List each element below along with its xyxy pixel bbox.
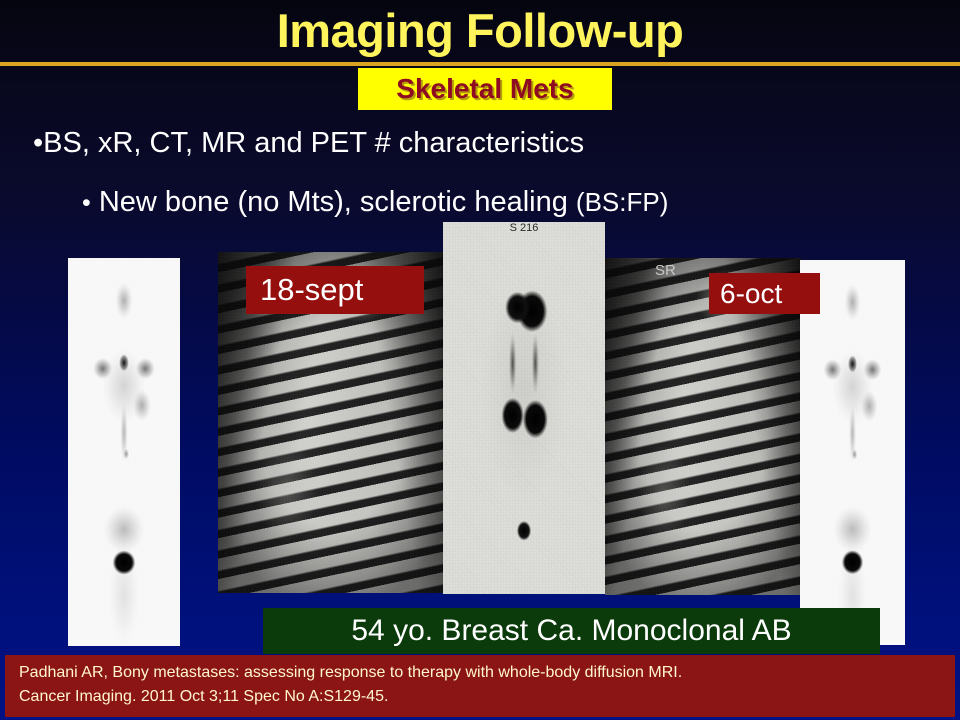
subtitle-banner: Skeletal Mets [358,68,612,110]
scan-noise-overlay [800,260,905,645]
date-label-sept: 18-sept [246,266,424,314]
presentation-slide: Imaging Follow-up Skeletal Mets •BS, xR,… [0,0,960,720]
bullet-dot: • [82,189,91,217]
title-divider [0,62,960,66]
bullet-text-abbrev: (BS:FP) [576,187,668,217]
image-panel-bonescan-baseline [68,258,180,646]
image-panel-bonescan-followup [800,260,905,645]
citation-footer: Padhani AR, Bony metastases: assessing r… [5,655,955,717]
bullet-item-modality-characteristics: •BS, xR, CT, MR and PET # characteristic… [33,127,584,160]
bullet-item-new-bone: • New bone (no Mts), sclerotic healing (… [82,186,668,219]
image-panel-diffusion-mip [443,222,605,594]
bullet-text-main: New bone (no Mts), sclerotic healing [91,186,576,218]
citation-line-1: Padhani AR, Bony metastases: assessing r… [19,661,955,685]
case-caption-banner: 54 yo. Breast Ca. Monoclonal AB [263,608,880,654]
date-label-oct: 6-oct [709,273,820,314]
mri-orientation-marker: SR [655,262,676,279]
subtitle-text: Skeletal Mets [396,73,573,105]
dwi-slice-label: S 216 [443,222,605,234]
case-caption-text: 54 yo. Breast Ca. Monoclonal AB [351,614,791,648]
dwi-noise-overlay [443,222,605,594]
page-title: Imaging Follow-up [0,2,960,60]
scan-noise-overlay [68,258,180,646]
citation-line-2: Cancer Imaging. 2011 Oct 3;11 Spec No A:… [19,685,955,709]
